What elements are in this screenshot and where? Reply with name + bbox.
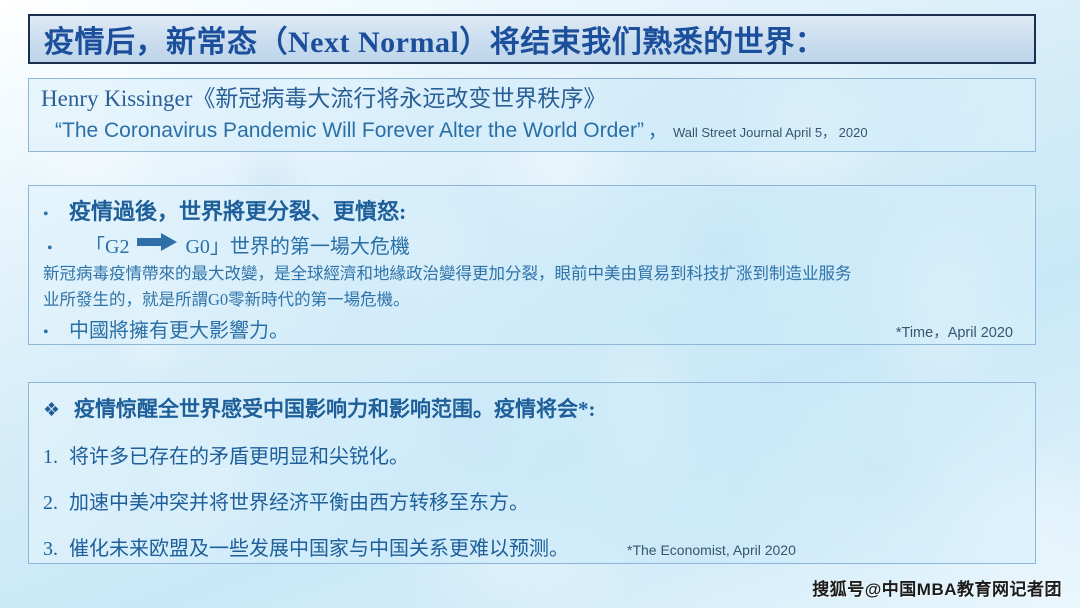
paragraph-line-1: 新冠病毒疫情帶來的最大改變，是全球經濟和地緣政治變得更加分裂，眼前中美由貿易到科… xyxy=(43,262,1021,285)
list-item-index: 3. xyxy=(43,538,69,561)
kissinger-quote-box: Henry Kissinger《新冠病毒大流行将永远改变世界秩序》 “The C… xyxy=(28,78,1036,152)
bullet-row-3: • 中國將擁有更大影響力。 *Time，April 2020 xyxy=(43,314,1021,343)
bullet-row-1: • 疫情過後，世界將更分裂、更憤怒: xyxy=(43,194,1021,226)
quote-english-row: “The Coronavirus Pandemic Will Forever A… xyxy=(41,116,1023,143)
predictions-heading-row: ❖ 疫情惊醒全世界感受中国影响力和影响范围。疫情将会*: xyxy=(43,393,1021,423)
site-watermark: 搜狐号@中国MBA教育网记者团 xyxy=(812,575,1062,600)
bullet-text-1: 疫情過後，世界將更分裂、更憤怒: xyxy=(59,194,406,226)
bullet-dot-icon: • xyxy=(43,206,59,224)
title-bar: 疫情后，新常态（Next Normal）将结束我们熟悉的世界： xyxy=(28,14,1036,64)
paragraph-line-2: 业所發生的，就是所謂G0零新時代的第一場危機。 xyxy=(43,288,1021,311)
bullet-text-2: 「G2 G0」世界的第一場大危機 xyxy=(63,230,410,259)
bullet-text-3: 中國將擁有更大影響力。 xyxy=(59,314,289,343)
list-item-index: 1. xyxy=(43,446,69,469)
list-item-text: 将许多已存在的矛盾更明显和尖锐化。 xyxy=(69,440,409,469)
list-item-index: 2. xyxy=(43,492,69,515)
analysis-bullets-box: • 疫情過後，世界將更分裂、更憤怒: • 「G2 G0」世界的第一場大危機 新冠… xyxy=(28,185,1036,345)
quote-source: Wall Street Journal April 5， 2020 xyxy=(673,122,868,141)
bullet-row-2: • 「G2 G0」世界的第一場大危機 xyxy=(43,230,1021,259)
g2-label: 「G2 xyxy=(85,230,129,259)
predictions-box: ❖ 疫情惊醒全世界感受中国影响力和影响范围。疫情将会*: 1. 将许多已存在的矛… xyxy=(28,382,1036,564)
bullet-dot-icon: • xyxy=(43,324,59,342)
diamond-bullet-icon: ❖ xyxy=(43,399,60,422)
list-item: 2. 加速中美冲突并将世界经济平衡由西方转移至东方。 xyxy=(43,486,1021,515)
list-item: 1. 将许多已存在的矛盾更明显和尖锐化。 xyxy=(43,440,1021,469)
quote-chinese-title: Henry Kissinger《新冠病毒大流行将永远改变世界秩序》 xyxy=(41,85,1023,114)
list-item: 3. 催化未来欧盟及一些发展中国家与中国关系更难以预测。 *The Econom… xyxy=(43,532,1021,561)
quote-english-title: “The Coronavirus Pandemic Will Forever A… xyxy=(55,119,644,143)
right-arrow-icon xyxy=(137,233,177,257)
g0-label: G0」世界的第一場大危機 xyxy=(185,230,409,259)
time-citation: *Time，April 2020 xyxy=(896,321,1021,342)
list-item-text: 加速中美冲突并将世界经济平衡由西方转移至东方。 xyxy=(69,486,529,515)
predictions-heading: 疫情惊醒全世界感受中国影响力和影响范围。疫情将会*: xyxy=(60,393,596,423)
slide-canvas: 疫情后，新常态（Next Normal）将结束我们熟悉的世界： Henry Ki… xyxy=(0,0,1080,608)
page-title: 疫情后，新常态（Next Normal）将结束我们熟悉的世界： xyxy=(44,17,825,61)
bullet-dot-icon: • xyxy=(47,240,63,258)
quote-separator: ， xyxy=(644,116,673,143)
economist-citation: *The Economist, April 2020 xyxy=(627,542,796,558)
list-item-text: 催化未来欧盟及一些发展中国家与中国关系更难以预测。 xyxy=(69,532,569,561)
